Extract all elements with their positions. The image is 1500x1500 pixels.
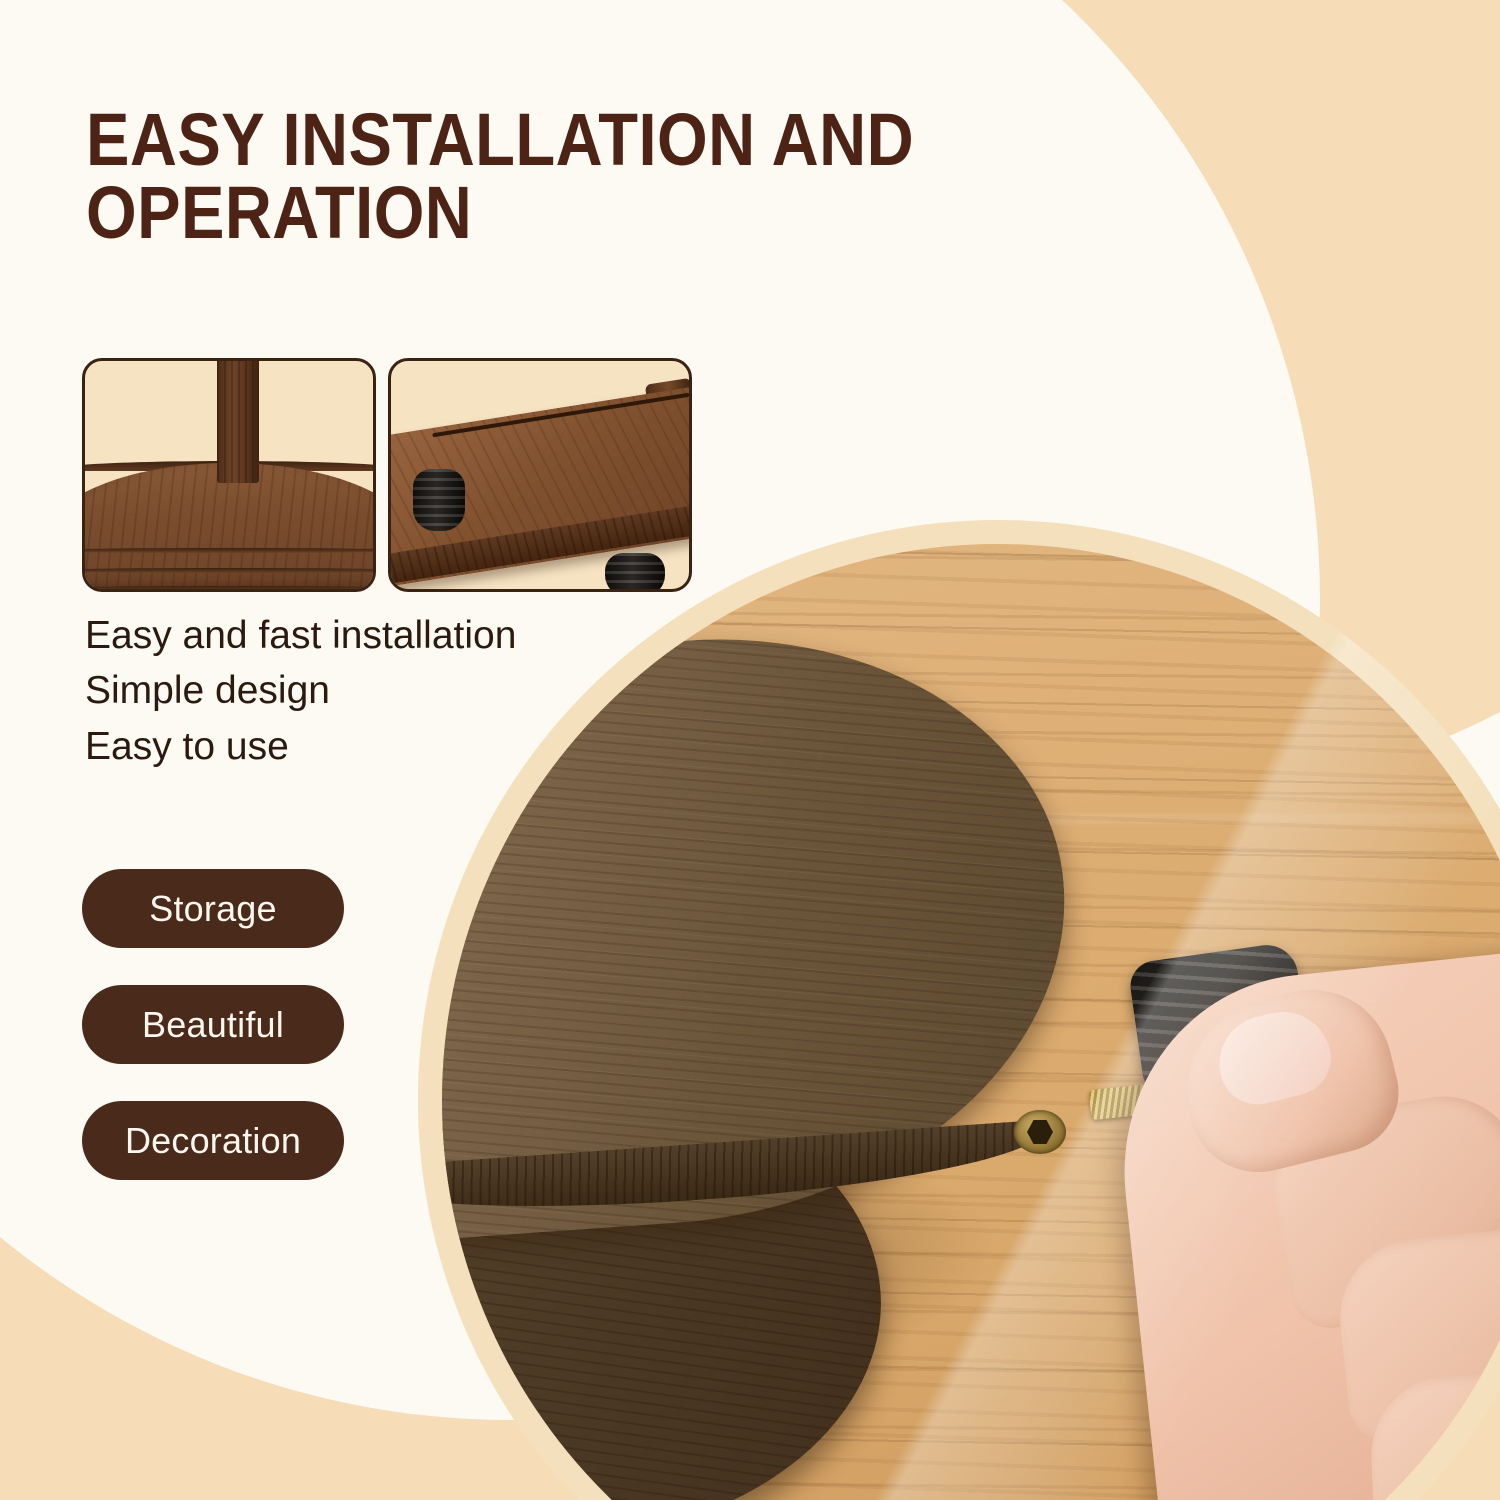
infographic-canvas: EASY INSTALLATION AND OPERATION Easy and… [0,0,1500,1500]
inset-photo-post-joint [82,358,376,592]
shelf-groove-3 [82,586,376,591]
shelf-groove-1 [82,548,376,553]
badge-storage: Storage [82,869,344,948]
brass-threaded-insert [1014,1110,1066,1154]
badge-beautiful: Beautiful [82,985,344,1064]
main-product-photo [442,544,1500,1500]
page-title: EASY INSTALLATION AND OPERATION [86,104,1036,249]
badge-decoration: Decoration [82,1101,344,1180]
rubber-foot-shape-left [413,469,465,531]
feature-badge-group: Storage Beautiful Decoration [82,869,344,1180]
vertical-post-shape [217,359,259,483]
main-product-photo-ring [418,520,1500,1500]
shelf-groove-2 [82,568,376,573]
